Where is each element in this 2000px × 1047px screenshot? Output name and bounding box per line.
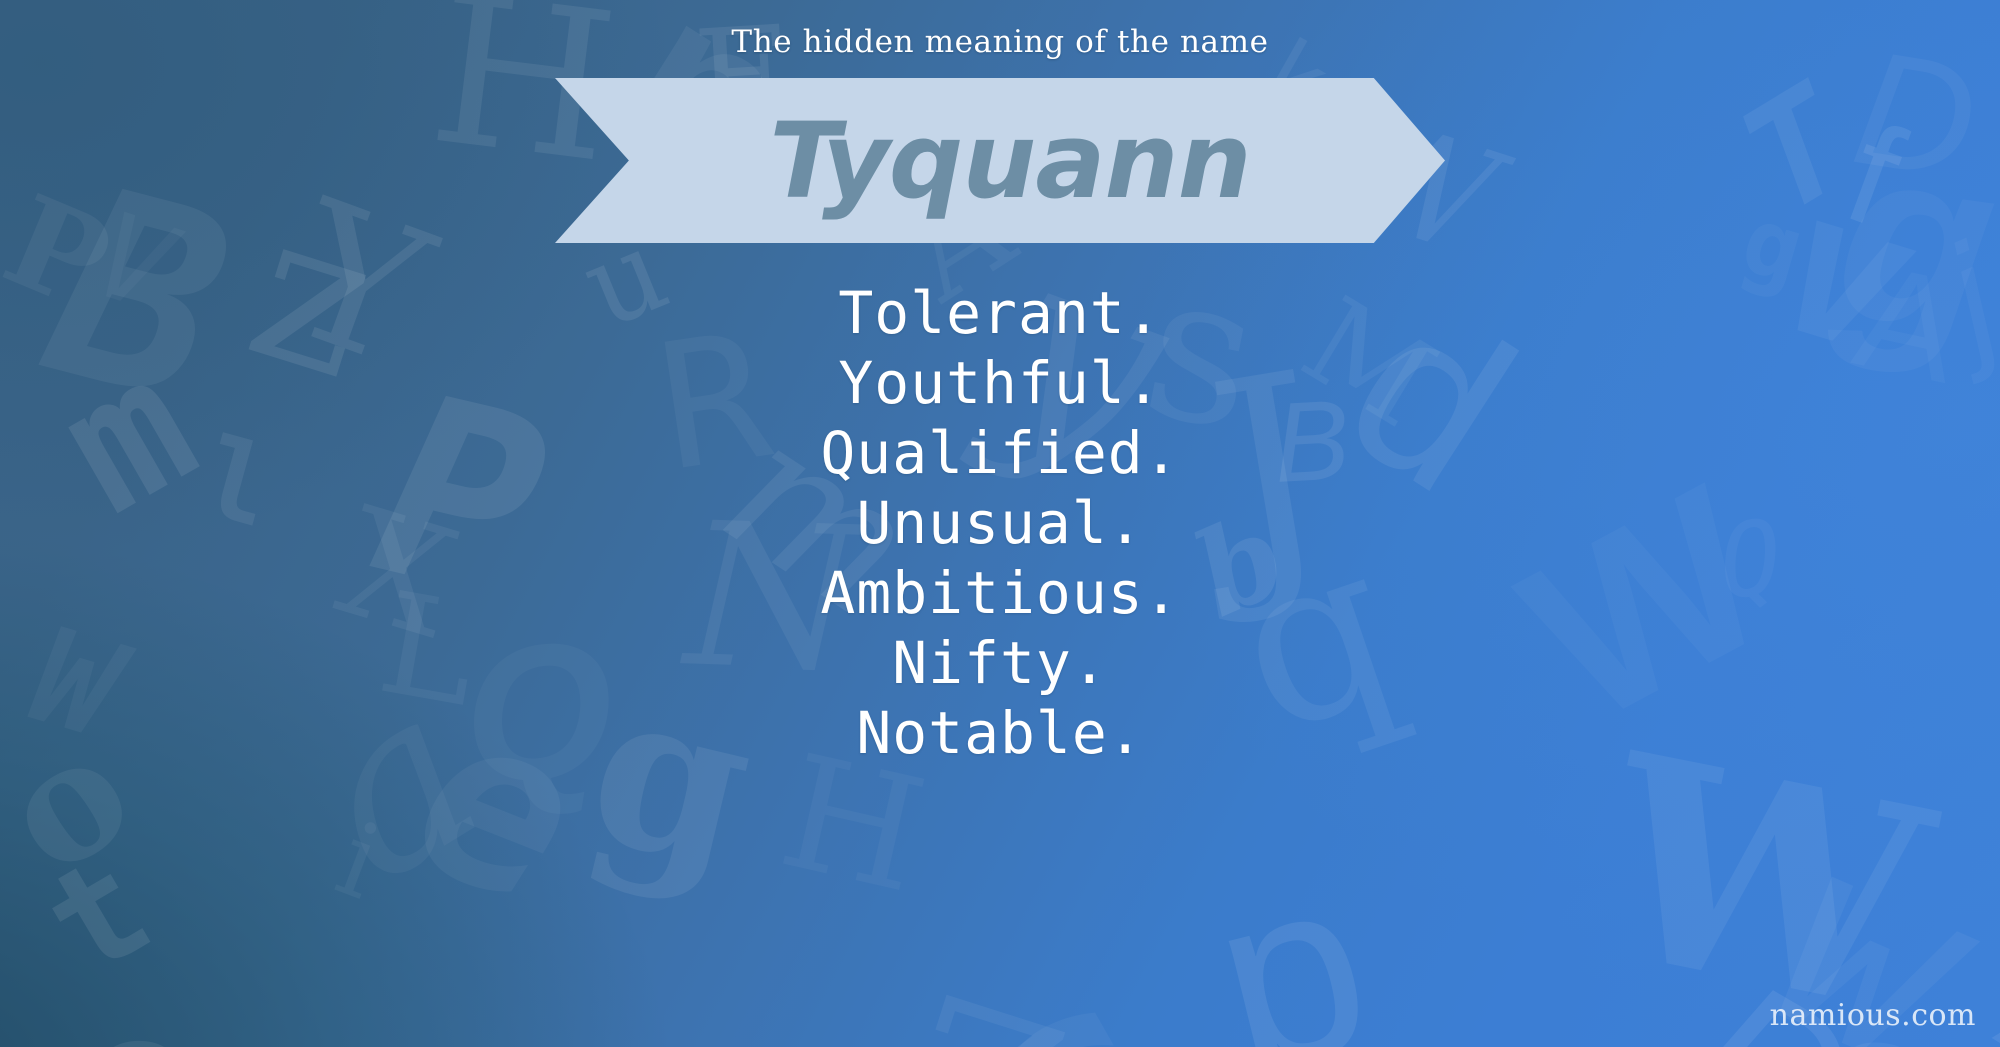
background-letter: e [76, 977, 200, 1047]
page-title: The hidden meaning of the name [0, 24, 2000, 60]
background-letter: S [958, 964, 1233, 1047]
background-letter: p [1194, 835, 1389, 1047]
meaning-line: Ambitious. [0, 558, 2000, 628]
meaning-line: Qualified. [0, 418, 2000, 488]
background-letter: t [23, 831, 171, 999]
background-letter: Z [876, 967, 1084, 1047]
meaning-line: Unusual. [0, 488, 2000, 558]
background-letter: f [1831, 102, 1918, 250]
name-text: Tyquann [555, 78, 1445, 243]
meaning-line: Nifty. [0, 628, 2000, 698]
background-letter: i [325, 808, 392, 916]
meaning-list: Tolerant.Youthful.Qualified.Unusual.Ambi… [0, 278, 2000, 768]
background-letter: T [1720, 65, 1872, 237]
meaning-line: Youthful. [0, 348, 2000, 418]
name-meaning-card: BWmaWZNSPKXLWgQeMRVGJAHqQAWngDkBETywHPpm… [0, 0, 2000, 1047]
meaning-line: Notable. [0, 698, 2000, 768]
name-banner: Tyquann [555, 78, 1445, 243]
meaning-line: Tolerant. [0, 278, 2000, 348]
background-letter: X [1976, 998, 2000, 1047]
site-watermark: namious.com [1770, 998, 1976, 1033]
